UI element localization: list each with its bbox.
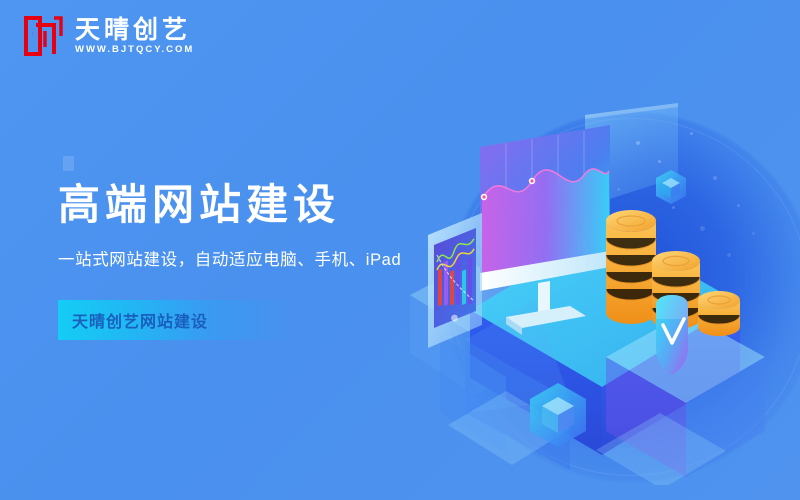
logo-website-url: WWW.BJTQCY.COM — [75, 45, 194, 55]
hero-banner: 天晴创艺 WWW.BJTQCY.COM 高端网站建设 一站式网站建设，自动适应电… — [0, 0, 800, 500]
tianqing-logo-mark-icon — [24, 14, 64, 57]
site-logo[interactable]: 天晴创艺 WWW.BJTQCY.COM — [24, 14, 194, 57]
coin-stack-short — [698, 291, 740, 336]
isometric-illustration — [410, 95, 800, 485]
shield-with-check — [656, 295, 688, 375]
logo-text-block: 天晴创艺 WWW.BJTQCY.COM — [75, 17, 194, 55]
logo-company-name: 天晴创艺 — [75, 18, 194, 43]
decorative-square — [63, 156, 74, 171]
cta-button[interactable]: 天晴创艺网站建设 — [58, 300, 295, 340]
tablet-with-bar-chart — [428, 213, 482, 348]
